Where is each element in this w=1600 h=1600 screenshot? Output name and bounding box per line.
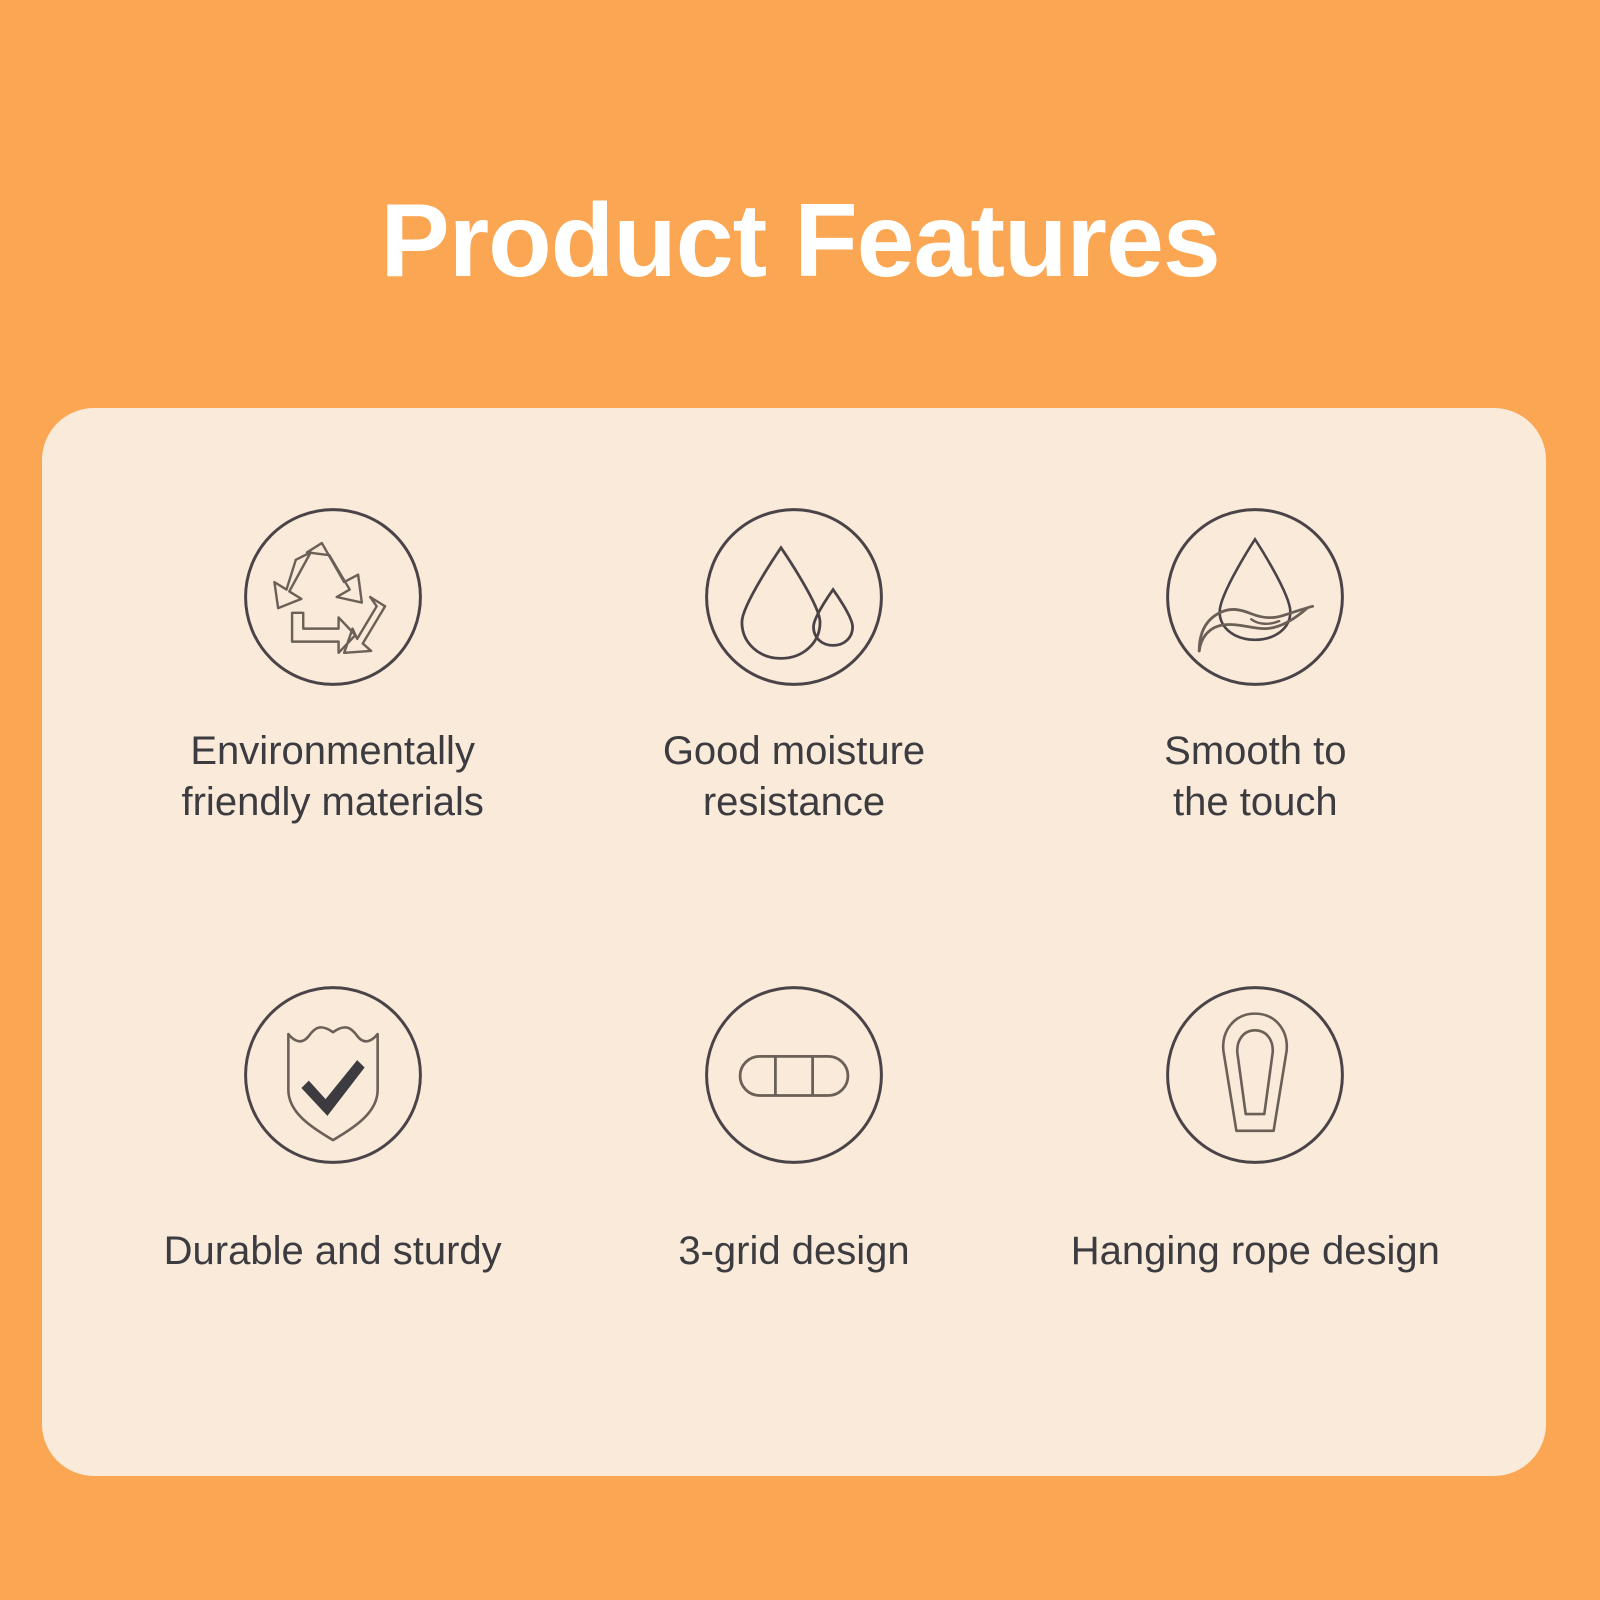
shield-check-icon [240,982,426,1168]
water-droplets-icon [701,504,887,690]
feature-label: Good moisture resistance [663,726,925,828]
feature-item-environmentally-friendly: Environmentally friendly materials [102,504,563,954]
feature-label: Environmentally friendly materials [182,726,484,828]
feature-item-hanging-rope: Hanging rope design [1025,954,1486,1404]
feature-label: Smooth to the touch [1164,726,1346,828]
page-title: Product Features [0,182,1600,302]
features-grid: Environmentally friendly materials Good … [42,408,1546,1476]
hanging-rope-loop-icon [1162,982,1348,1168]
feature-item-durable-sturdy: Durable and sturdy [102,954,563,1404]
feature-item-moisture-resistance: Good moisture resistance [563,504,1024,954]
feature-item-three-grid: 3-grid design [563,954,1024,1404]
hand-holding-droplet-icon [1162,504,1348,690]
feature-label: Durable and sturdy [164,1226,502,1277]
feature-item-smooth-touch: Smooth to the touch [1025,504,1486,954]
feature-label: 3-grid design [678,1226,909,1277]
features-card: Environmentally friendly materials Good … [42,408,1546,1476]
three-grid-icon [701,982,887,1168]
product-features-page: Product Features Environmenta [0,0,1600,1600]
feature-label: Hanging rope design [1071,1226,1440,1277]
recycle-icon [240,504,426,690]
